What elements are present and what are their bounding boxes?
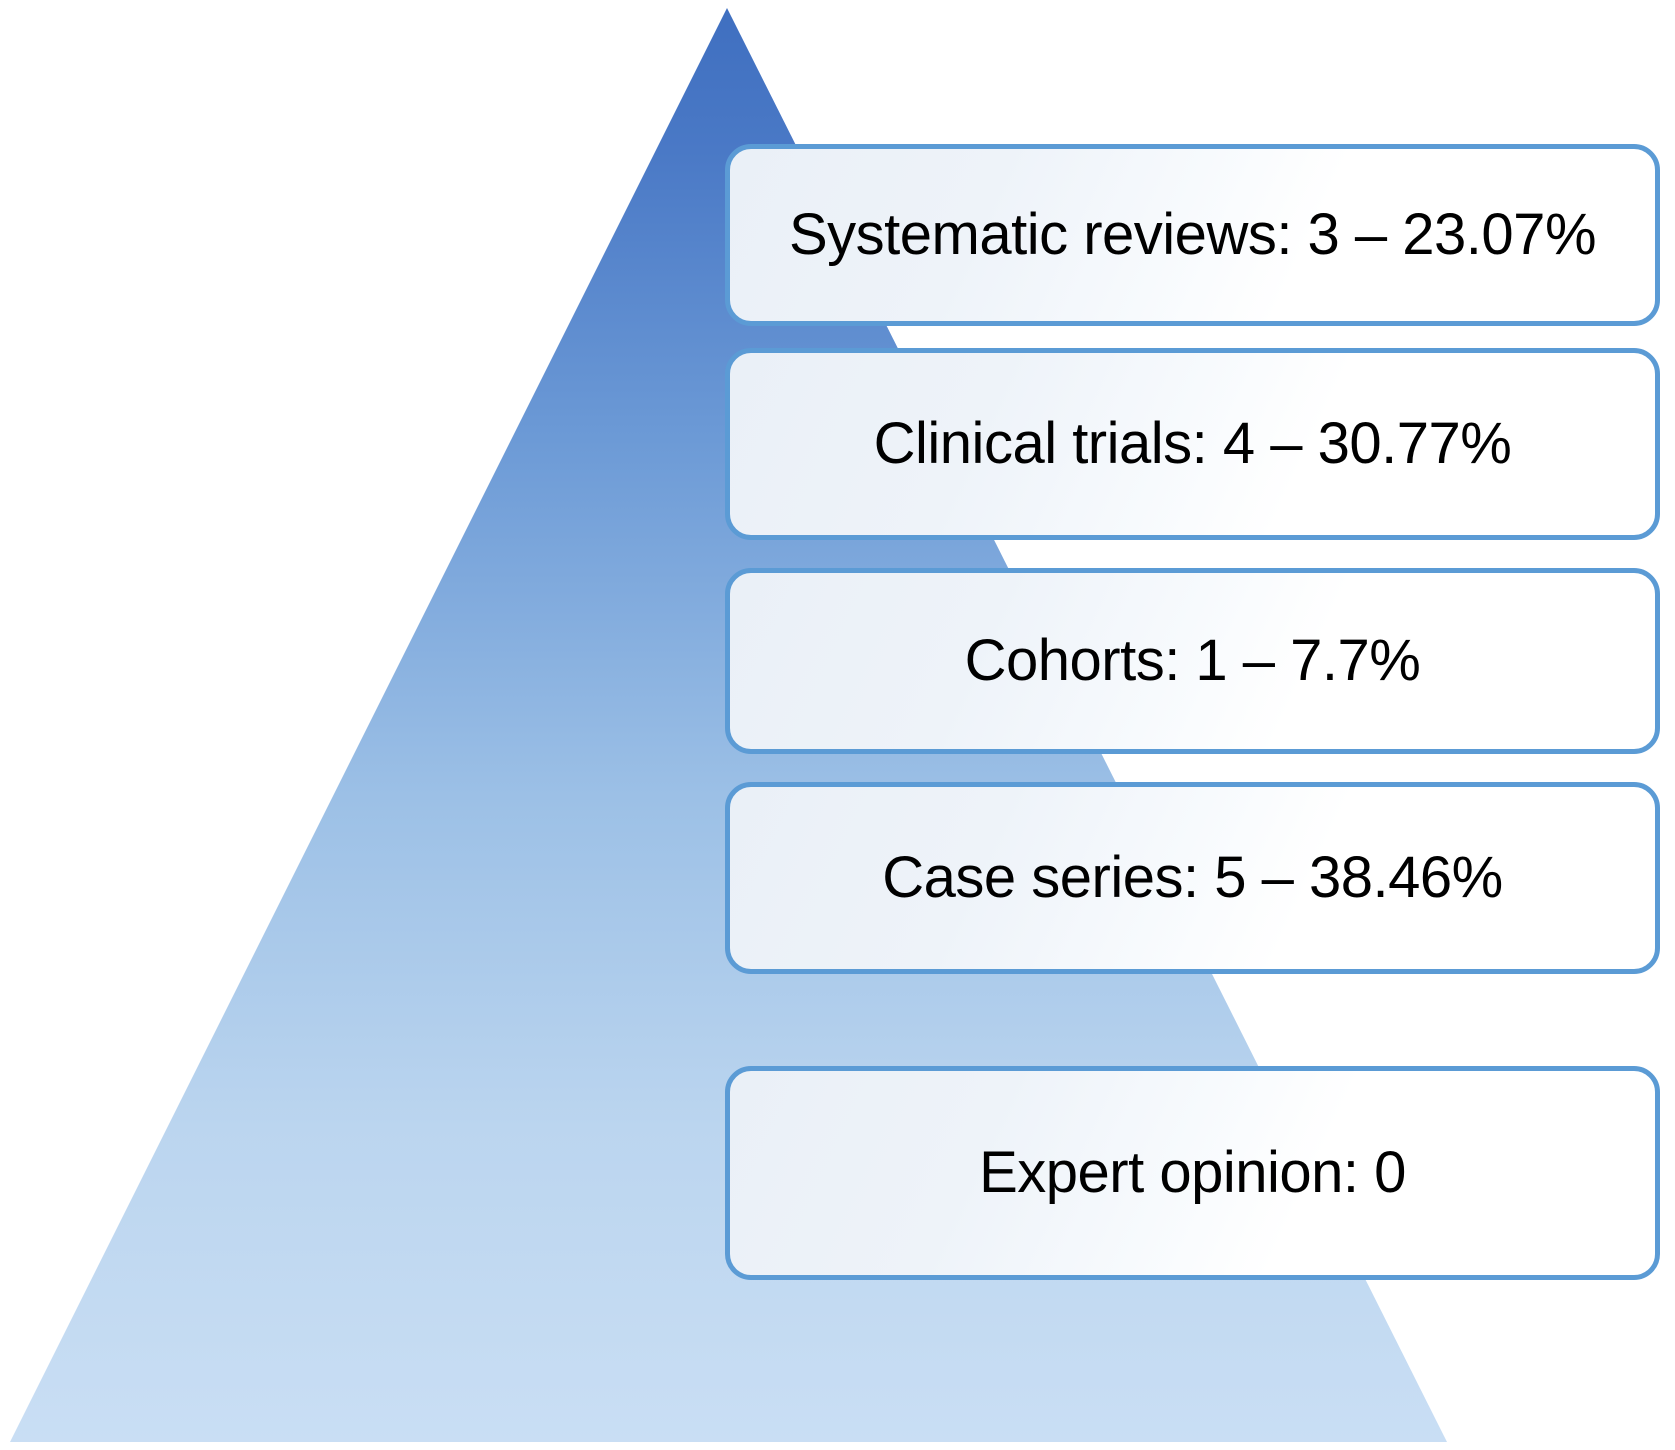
pyramid-level-case-series[interactable]: Case series: 5 – 38.46% [725,782,1660,974]
evidence-pyramid-diagram: Systematic reviews: 3 – 23.07% Clinical … [0,0,1675,1450]
pyramid-level-expert-opinion[interactable]: Expert opinion: 0 [725,1066,1660,1280]
pyramid-level-label: Systematic reviews: 3 – 23.07% [789,203,1596,267]
pyramid-level-label: Case series: 5 – 38.46% [882,846,1502,910]
pyramid-level-systematic-reviews[interactable]: Systematic reviews: 3 – 23.07% [725,144,1660,326]
pyramid-level-cohorts[interactable]: Cohorts: 1 – 7.7% [725,568,1660,754]
pyramid-level-label: Clinical trials: 4 – 30.77% [874,412,1512,476]
pyramid-level-label: Cohorts: 1 – 7.7% [965,629,1421,693]
pyramid-level-clinical-trials[interactable]: Clinical trials: 4 – 30.77% [725,348,1660,540]
pyramid-level-label: Expert opinion: 0 [979,1141,1406,1205]
